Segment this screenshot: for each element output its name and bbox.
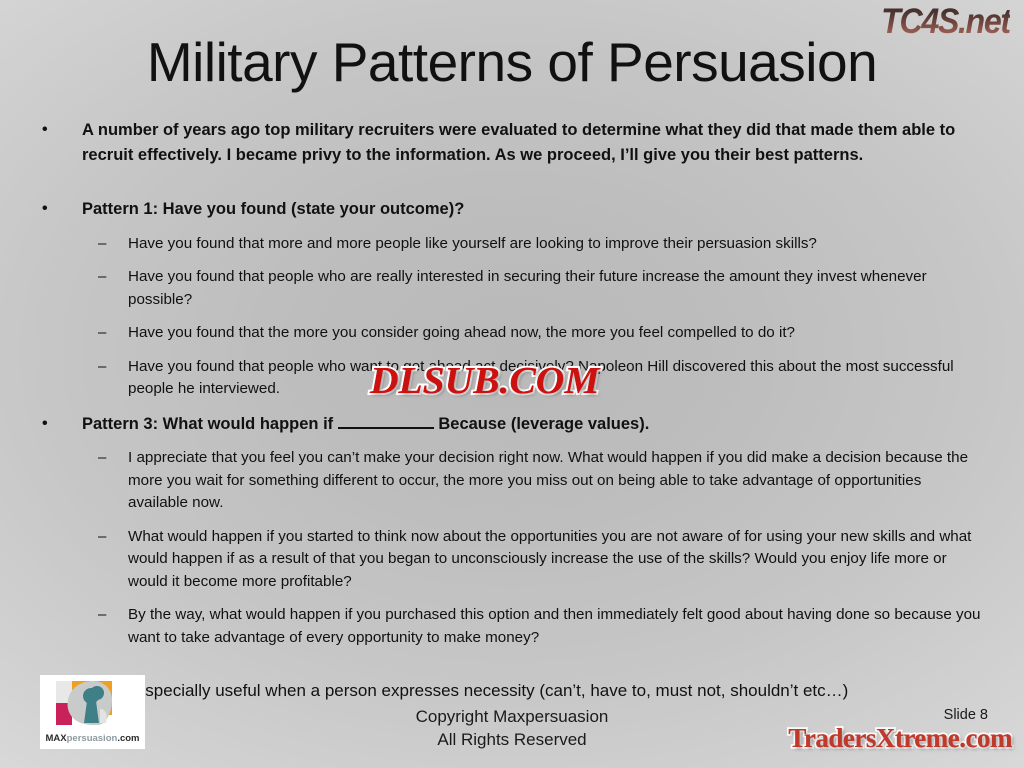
spacer (0, 345, 1024, 356)
list-item-text: Have you found that more and more people… (128, 235, 817, 252)
bullet-pattern1-heading: • Pattern 1: Have you found (state your … (0, 197, 1024, 222)
slide-canvas: Military Patterns of Persuasion TC4S.net… (0, 0, 1024, 768)
list-item: – Have you found that more and more peop… (0, 233, 1024, 256)
list-item: – Have you found that the more you consi… (0, 322, 1024, 345)
bullet-marker: • (42, 118, 48, 143)
spacer (0, 167, 1024, 197)
traders-fill-text: TradersXtreme.com (788, 723, 1012, 754)
bullet-closing-text: This is especially useful when a person … (82, 681, 848, 700)
slide-body: • A number of years ago top military rec… (0, 118, 1024, 704)
dash-marker: – (98, 233, 106, 256)
bullet-intro-text: A number of years ago top military recru… (82, 121, 955, 164)
spacer (0, 436, 1024, 447)
list-item-text: I appreciate that you feel you can’t mak… (128, 449, 968, 511)
dash-marker: – (98, 604, 106, 627)
tradersxtreme-watermark: TradersXtreme.com TradersXtreme.com (788, 723, 1012, 754)
bullet-marker: • (42, 412, 48, 437)
list-item-text: By the way, what would happen if you pur… (128, 606, 980, 646)
bullet-pattern3-heading: • Pattern 3: What would happen if Becaus… (0, 412, 1024, 437)
spacer (0, 649, 1024, 679)
dash-marker: – (98, 526, 106, 549)
bullet-intro: • A number of years ago top military rec… (0, 118, 1024, 167)
list-item-text: Have you found that people who are reall… (128, 268, 927, 308)
dlsub-fill-text: DLSUB.COM (370, 359, 599, 403)
list-item-text: What would happen if you started to thin… (128, 528, 971, 590)
dash-marker: – (98, 447, 106, 470)
pattern1-heading-text: Pattern 1: Have you found (state your ou… (82, 200, 464, 218)
fill-in-blank (338, 427, 434, 429)
pattern3-heading-before: Pattern 3: What would happen if (82, 415, 333, 433)
spacer (0, 311, 1024, 322)
spacer (0, 515, 1024, 526)
list-item: – I appreciate that you feel you can’t m… (0, 447, 1024, 515)
dash-marker: – (98, 322, 106, 345)
bullet-marker: • (42, 197, 48, 222)
spacer (0, 222, 1024, 233)
spacer (0, 593, 1024, 604)
list-item: – Have you found that people who are rea… (0, 266, 1024, 311)
dash-marker: – (98, 356, 106, 379)
bullet-closing: • This is especially useful when a perso… (0, 679, 1024, 704)
tc4s-watermark: TC4S.net (881, 2, 1010, 42)
spacer (0, 255, 1024, 266)
list-item: – By the way, what would happen if you p… (0, 604, 1024, 649)
pattern3-heading-after: Because (leverage values). (438, 415, 649, 433)
page-title: Military Patterns of Persuasion (0, 30, 1024, 94)
dlsub-watermark: DLSUB.COM DLSUB.COM (370, 359, 599, 403)
dash-marker: – (98, 266, 106, 289)
slide-number: Slide 8 (944, 707, 988, 723)
list-item: – What would happen if you started to th… (0, 526, 1024, 594)
list-item-text: Have you found that the more you conside… (128, 324, 795, 341)
